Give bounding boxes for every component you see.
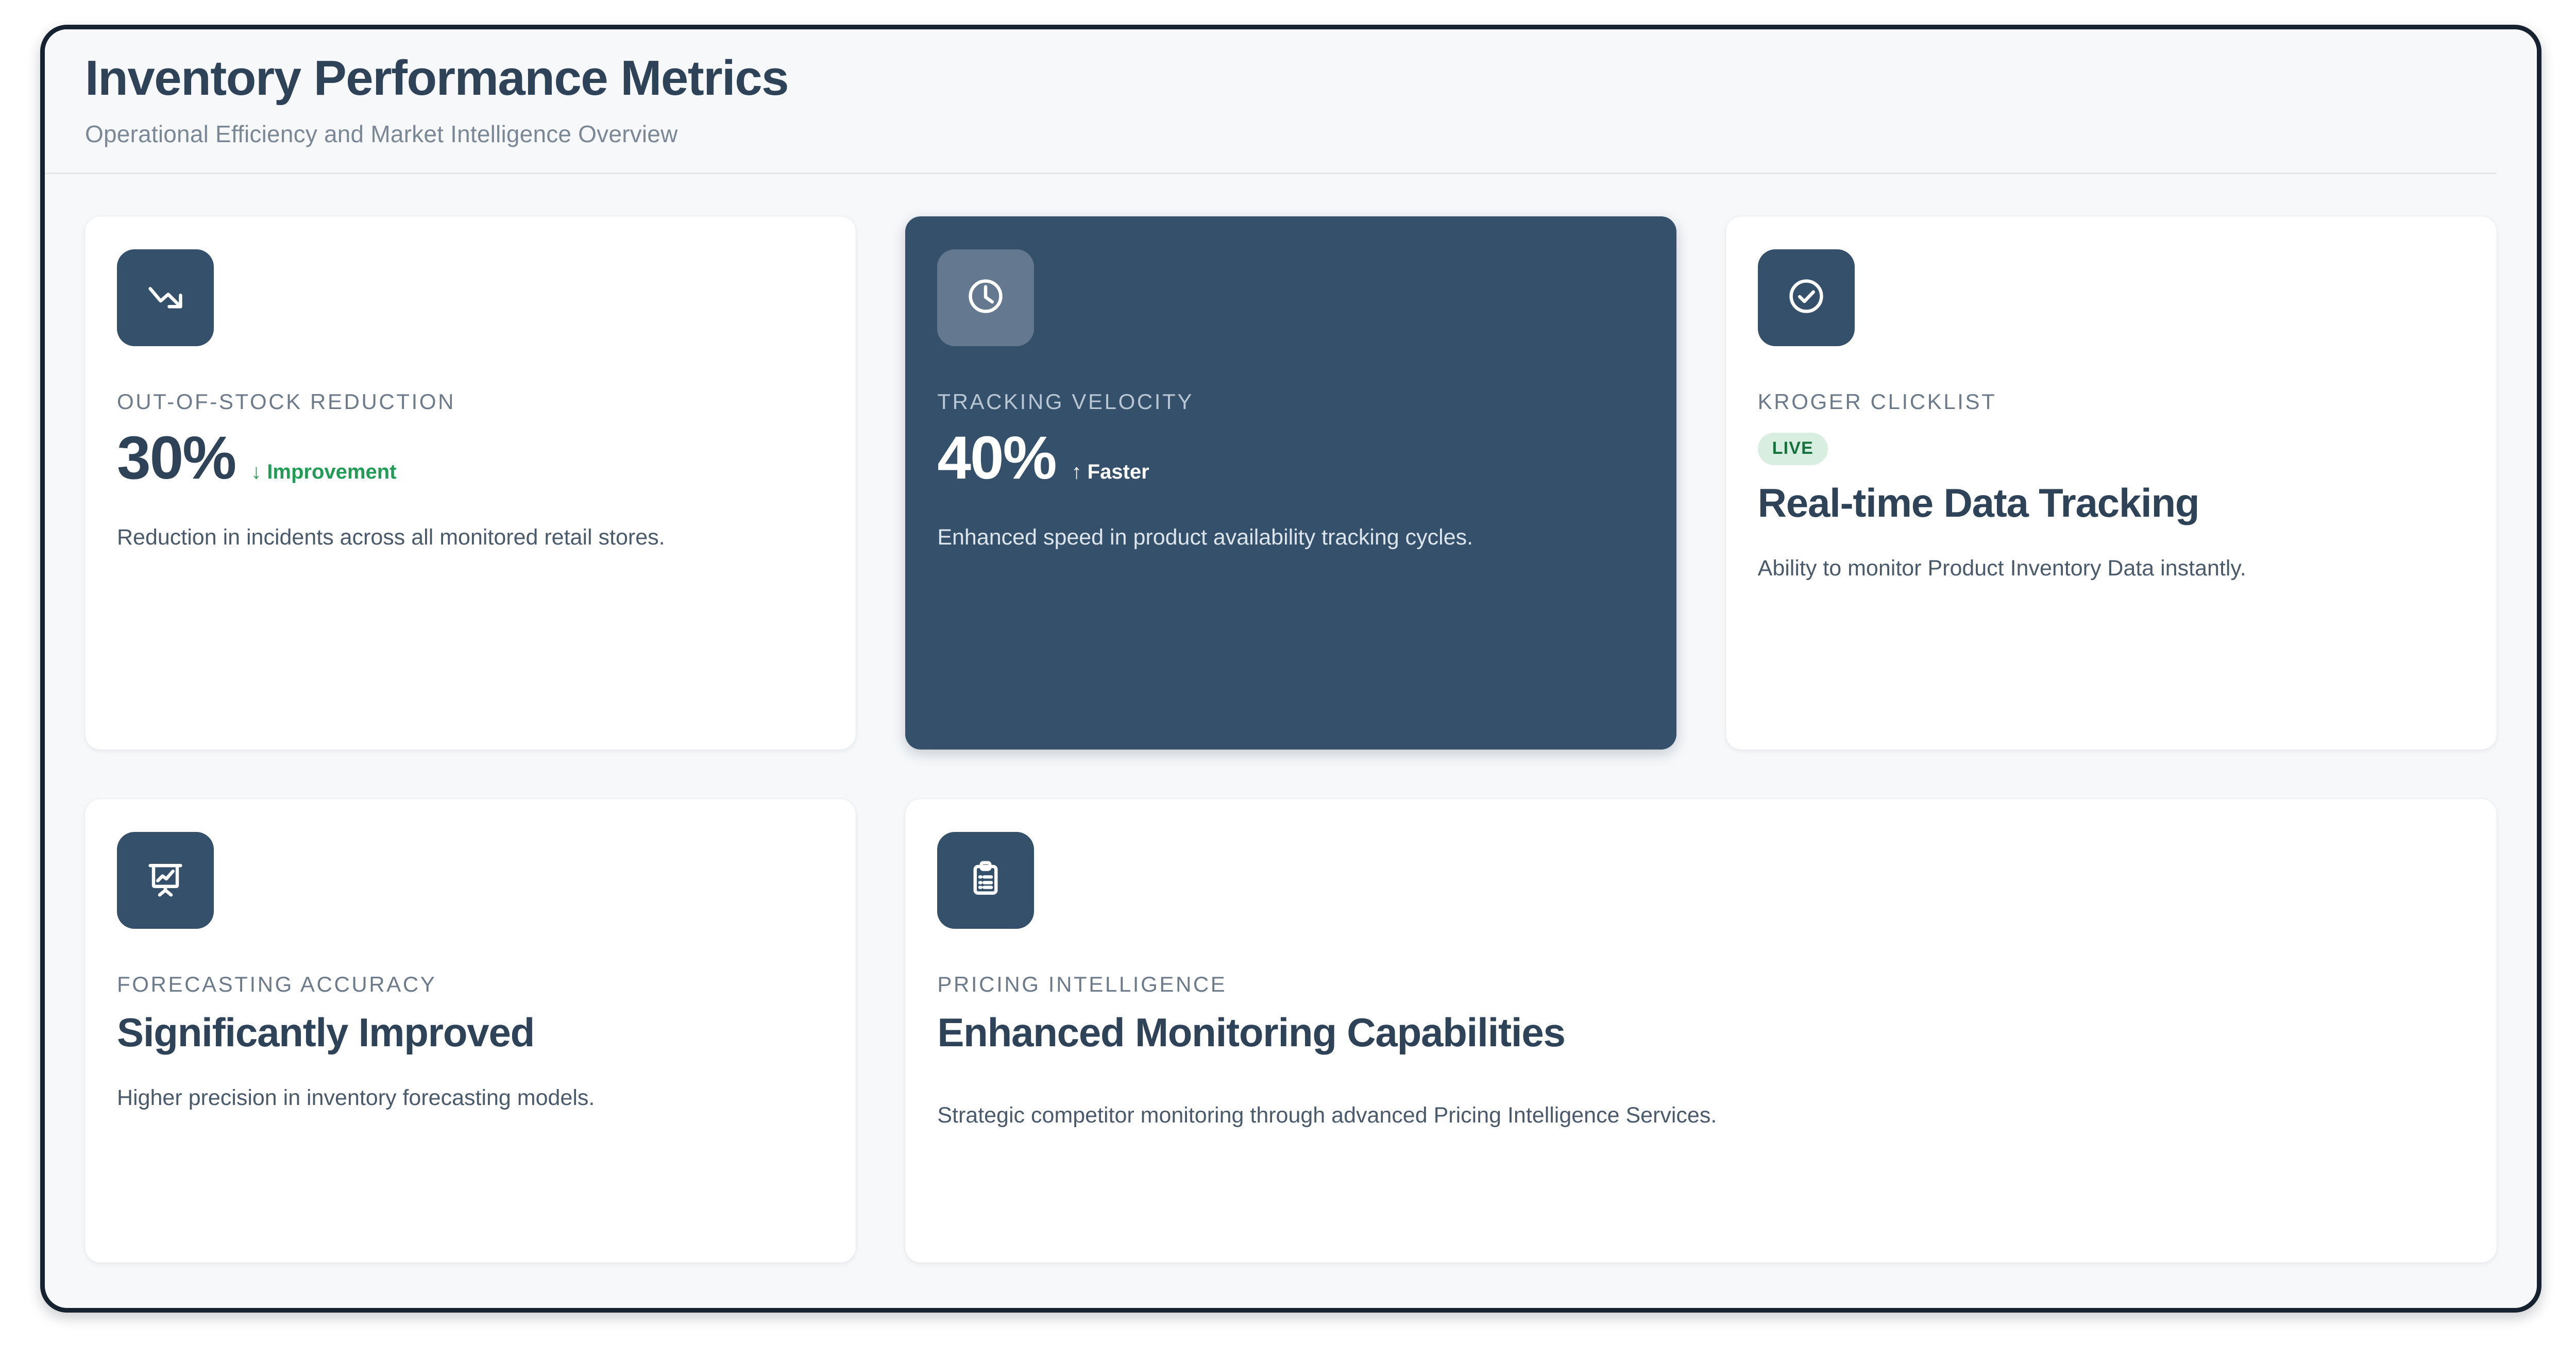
panel-header: Inventory Performance Metrics Operationa… [45,29,2537,174]
metric-card-out-of-stock[interactable]: OUT-OF-STOCK REDUCTION 30% ↓ Improvement… [85,216,856,750]
metric-card-kroger-clicklist[interactable]: KROGER CLICKLIST LIVE Real-time Data Tra… [1726,216,2497,750]
card-label: KROGER CLICKLIST [1758,389,2465,414]
icon-tile [117,249,214,346]
card-label: TRACKING VELOCITY [937,389,1644,414]
trending-down-icon [142,273,189,322]
card-label: PRICING INTELLIGENCE [937,972,2465,997]
card-description: Higher precision in inventory forecastin… [117,1082,725,1115]
icon-tile [117,832,214,929]
value-row: 40% ↑ Faster [937,428,1644,488]
card-label: OUT-OF-STOCK REDUCTION [117,389,824,414]
icon-tile [937,249,1034,346]
page-subtitle: Operational Efficiency and Market Intell… [85,120,2537,148]
card-description: Reduction in incidents across all monito… [117,521,725,554]
check-circle-icon [1783,273,1830,322]
metric-card-pricing-intelligence[interactable]: PRICING INTELLIGENCE Enhanced Monitoring… [905,799,2497,1263]
presentation-chart-icon [142,855,189,905]
screenshot-root: Inventory Performance Metrics Operationa… [0,0,2576,1361]
trend-indicator: ↑ Faster [1072,461,1149,484]
metric-card-forecasting-accuracy[interactable]: FORECASTING ACCURACY Significantly Impro… [85,799,856,1263]
trend-indicator: ↓ Improvement [251,461,396,484]
status-badge: LIVE [1758,433,1828,465]
metrics-grid: OUT-OF-STOCK REDUCTION 30% ↓ Improvement… [45,174,2537,1263]
metric-value: 40% [937,428,1056,488]
card-description: Strategic competitor monitoring through … [937,1099,2174,1132]
metric-value: 30% [117,428,235,488]
card-description: Ability to monitor Product Inventory Dat… [1758,552,2366,585]
card-headline: Real-time Data Tracking [1758,481,2465,525]
icon-tile [937,832,1034,929]
metrics-panel: Inventory Performance Metrics Operationa… [40,25,2541,1313]
card-headline: Significantly Improved [117,1010,824,1055]
icon-tile [1758,249,1855,346]
page-title: Inventory Performance Metrics [85,52,2537,105]
card-label: FORECASTING ACCURACY [117,972,824,997]
card-description: Enhanced speed in product availability t… [937,521,1545,554]
clipboard-list-icon [962,855,1009,905]
card-headline: Enhanced Monitoring Capabilities [937,1010,2465,1055]
metric-card-tracking-velocity[interactable]: TRACKING VELOCITY 40% ↑ Faster Enhanced … [905,216,1676,750]
value-row: 30% ↓ Improvement [117,428,824,488]
clock-icon [962,273,1009,322]
